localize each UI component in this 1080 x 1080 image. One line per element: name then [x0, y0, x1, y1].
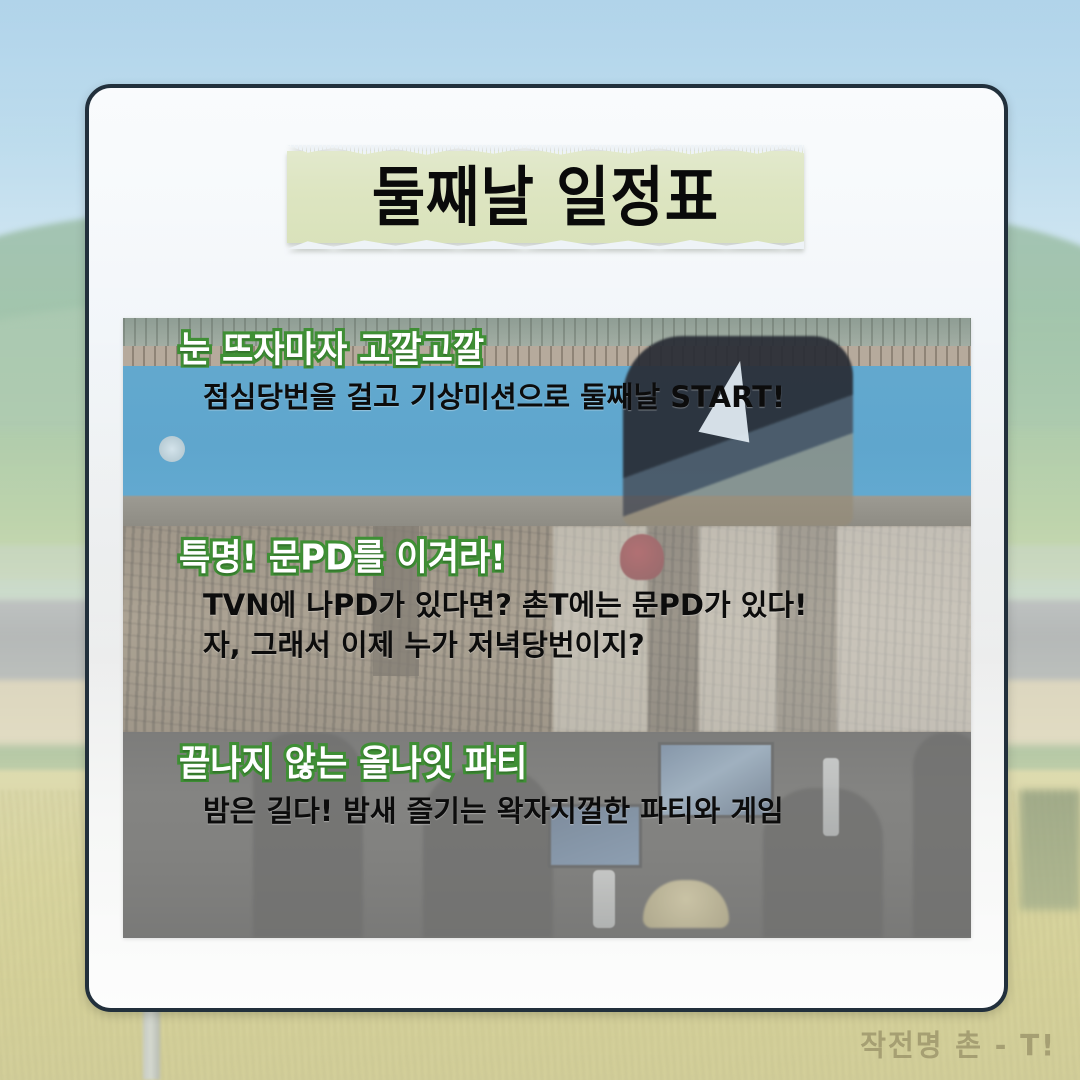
page-title: 둘째날 일정표 [372, 165, 719, 230]
schedule-row: 끝나지 않는 올나잇 파티 밤은 길다! 밤새 즐기는 왁자지껄한 파티와 게임 [123, 732, 971, 938]
schedule-row-heading: 눈 뜨자마자 고깔고깔 [179, 331, 971, 370]
schedule-row-heading: 특명! 문PD를 이겨라! [179, 539, 971, 578]
title-banner: 둘째날 일정표 [287, 151, 804, 243]
schedule-row-line: 점심당번을 걸고 기상미션으로 둘째날 START! [203, 379, 971, 416]
schedule-row-line: 자, 그래서 이제 누가 저녁당번이지? [203, 627, 971, 664]
schedule-row: 특명! 문PD를 이겨라! TVN에 나PD가 있다면? 촌T에는 문PD가 있… [123, 526, 971, 732]
schedule-row: 눈 뜨자마자 고깔고깔 점심당번을 걸고 기상미션으로 둘째날 START! [123, 318, 971, 526]
schedule-photo-list: 눈 뜨자마자 고깔고깔 점심당번을 걸고 기상미션으로 둘째날 START! 특… [123, 318, 971, 938]
schedule-row-text: 특명! 문PD를 이겨라! TVN에 나PD가 있다면? 촌T에는 문PD가 있… [123, 526, 971, 664]
schedule-card: 둘째날 일정표 눈 뜨자마자 고깔고깔 점심당번을 걸고 기상미션으로 둘째날 … [85, 84, 1008, 1012]
schedule-row-heading: 끝나지 않는 올나잇 파티 [179, 745, 971, 784]
torn-paper-edge-top [287, 145, 804, 156]
watermark: 작전명 촌 - T! [860, 1023, 1056, 1065]
schedule-row-text: 끝나지 않는 올나잇 파티 밤은 길다! 밤새 즐기는 왁자지껄한 파티와 게임 [123, 732, 971, 831]
schedule-row-text: 눈 뜨자마자 고깔고깔 점심당번을 걸고 기상미션으로 둘째날 START! [123, 318, 971, 417]
schedule-row-line: TVN에 나PD가 있다면? 촌T에는 문PD가 있다! [203, 587, 971, 624]
torn-paper-edge-bottom [287, 238, 804, 249]
schedule-row-line: 밤은 길다! 밤새 즐기는 왁자지껄한 파티와 게임 [203, 793, 971, 830]
